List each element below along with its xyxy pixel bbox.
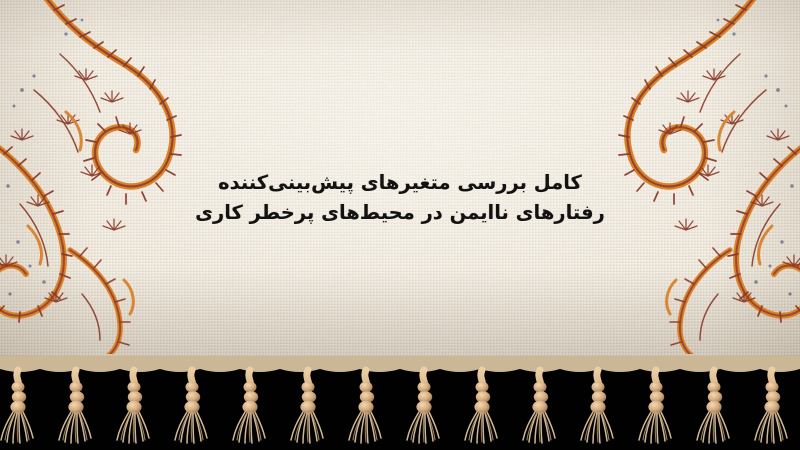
title-line-2: رفتارهای ناایمن در محیط‌های پرخطر کاری: [0, 198, 800, 228]
page-title: کامل بررسی متغیرهای پیش‌بینی‌کننده رفتار…: [0, 168, 800, 227]
title-card: کامل بررسی متغیرهای پیش‌بینی‌کننده رفتار…: [0, 0, 800, 450]
tassel-fringe: [0, 356, 800, 450]
title-line-1: کامل بررسی متغیرهای پیش‌بینی‌کننده: [0, 168, 800, 198]
